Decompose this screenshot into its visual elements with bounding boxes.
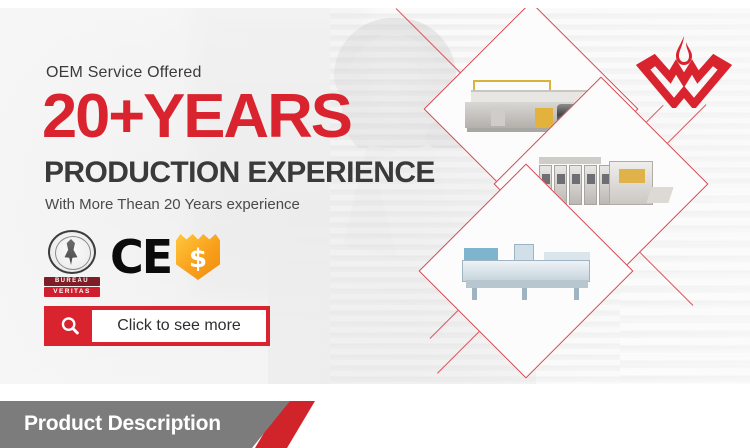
ce-mark-icon: CE bbox=[110, 234, 171, 280]
product-description-section-bar: Product Description bbox=[0, 401, 750, 448]
bureau-veritas-seal-icon bbox=[48, 230, 96, 274]
cta-label: Click to see more bbox=[117, 317, 241, 335]
machine-module-b bbox=[535, 108, 553, 128]
machine-output-tray bbox=[646, 187, 673, 203]
eyebrow-text: OEM Service Offered bbox=[46, 64, 202, 82]
click-to-see-more-button[interactable]: Click to see more bbox=[44, 306, 270, 346]
tagline-text: With More Thean 20 Years experience bbox=[45, 196, 300, 213]
print-unit-4 bbox=[584, 165, 597, 205]
machine-leg-2 bbox=[522, 288, 527, 300]
machine-leg-1 bbox=[472, 288, 477, 300]
machine-control-panel bbox=[619, 169, 645, 183]
section-title: Product Description bbox=[24, 412, 221, 436]
dollar-symbol: $ bbox=[176, 234, 220, 280]
machine-illustration-3 bbox=[456, 234, 596, 308]
hero-banner: OEM Service Offered 20+YEARS PRODUCTION … bbox=[0, 8, 750, 384]
cta-label-field[interactable]: Click to see more bbox=[92, 310, 266, 342]
bureau-veritas-logo: BUREAU VERITAS bbox=[44, 230, 100, 297]
folder-gluer-machine-photo bbox=[451, 196, 601, 346]
search-icon bbox=[48, 310, 92, 342]
machine-leg-3 bbox=[574, 288, 579, 300]
company-w-flame-logo bbox=[636, 34, 732, 108]
headline-years: 20+YEARS bbox=[42, 86, 351, 148]
trade-assurance-badge: $ bbox=[176, 234, 220, 280]
bureau-veritas-line2: VERITAS bbox=[44, 287, 100, 297]
subheadline-production-experience: PRODUCTION EXPERIENCE bbox=[44, 156, 435, 190]
machine-main-body bbox=[609, 161, 653, 205]
machine-module-a bbox=[491, 108, 505, 126]
bureau-veritas-line1: BUREAU bbox=[44, 277, 100, 286]
machine-conveyor bbox=[466, 280, 588, 288]
banner-page: OEM Service Offered 20+YEARS PRODUCTION … bbox=[0, 0, 750, 448]
machine-frame bbox=[462, 260, 590, 282]
machine-rack bbox=[539, 157, 601, 164]
print-unit-3 bbox=[569, 165, 582, 205]
